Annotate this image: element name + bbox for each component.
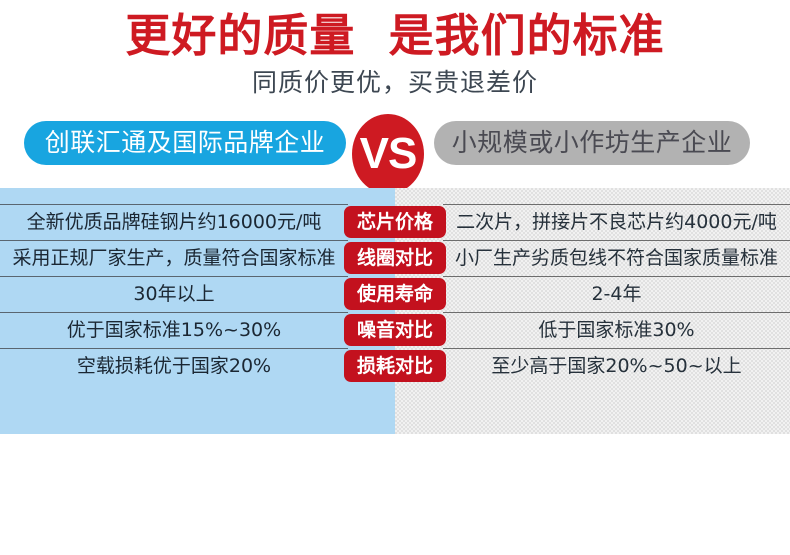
comparison-cell-right: 2-4年 — [443, 277, 790, 312]
comparison-cell-right: 二次片，拼接片不良芯片约4000元/吨 — [443, 205, 790, 240]
comparison-cell-right: 低于国家标准30% — [443, 313, 790, 348]
comparison-cell-right: 小厂生产劣质包线不符合国家质量标准 — [443, 241, 790, 276]
vs-left-pill: 创联汇通及国际品牌企业 — [24, 121, 346, 165]
promo-banner-page: 更好的质量 是我们的标准 同质价更优，买贵退差价 创联汇通及国际品牌企业 VS … — [0, 0, 790, 464]
comparison-cell-left: 采用正规厂家生产，质量符合国家标准 — [0, 241, 348, 276]
comparison-cell-right: 至少高于国家20%~50~以上 — [443, 349, 790, 384]
headline-block: 更好的质量 是我们的标准 同质价更优，买贵退差价 — [0, 10, 790, 98]
comparison-rows: 全新优质品牌硅钢片约16000元/吨芯片价格二次片，拼接片不良芯片约4000元/… — [0, 188, 790, 434]
watermark-text: 创联汇通 — [120, 478, 304, 526]
watermark-subtext: CHUANGLIAN HUITONG — [124, 528, 322, 541]
vs-badge-icon: VS — [352, 114, 424, 194]
table-row: 30年以上使用寿命2-4年 — [0, 276, 790, 312]
watermark-logo-icon — [52, 476, 302, 550]
comparison-category-label: 使用寿命 — [344, 278, 446, 310]
table-row: 采用正规厂家生产，质量符合国家标准线圈对比小厂生产劣质包线不符合国家质量标准 — [0, 240, 790, 276]
comparison-category-label: 损耗对比 — [344, 350, 446, 382]
table-row: 全新优质品牌硅钢片约16000元/吨芯片价格二次片，拼接片不良芯片约4000元/… — [0, 204, 790, 240]
vs-right-pill: 小规模或小作坊生产企业 — [434, 121, 750, 165]
comparison-category-label: 芯片价格 — [344, 206, 446, 238]
comparison-category-label: 线圈对比 — [344, 242, 446, 274]
table-row: 优于国家标准15%~30%噪音对比低于国家标准30% — [0, 312, 790, 348]
page-subtitle: 同质价更优，买贵退差价 — [0, 68, 790, 98]
comparison-cell-left: 空载损耗优于国家20% — [0, 349, 348, 384]
table-row: 空载损耗优于国家20%损耗对比至少高于国家20%~50~以上 — [0, 348, 790, 384]
brand-watermark: 创联汇通 CHUANGLIAN HUITONG — [52, 476, 302, 550]
page-title: 更好的质量 是我们的标准 — [0, 10, 790, 62]
vs-banner: 创联汇通及国际品牌企业 VS 小规模或小作坊生产企业 — [0, 118, 790, 176]
comparison-cell-left: 全新优质品牌硅钢片约16000元/吨 — [0, 205, 348, 240]
comparison-cell-left: 优于国家标准15%~30% — [0, 313, 348, 348]
comparison-cell-left: 30年以上 — [0, 277, 348, 312]
comparison-category-label: 噪音对比 — [344, 314, 446, 346]
comparison-table: 创联汇通 CHUANGLIAN HUITONG 全新优质品牌硅钢片约16000元… — [0, 188, 790, 434]
